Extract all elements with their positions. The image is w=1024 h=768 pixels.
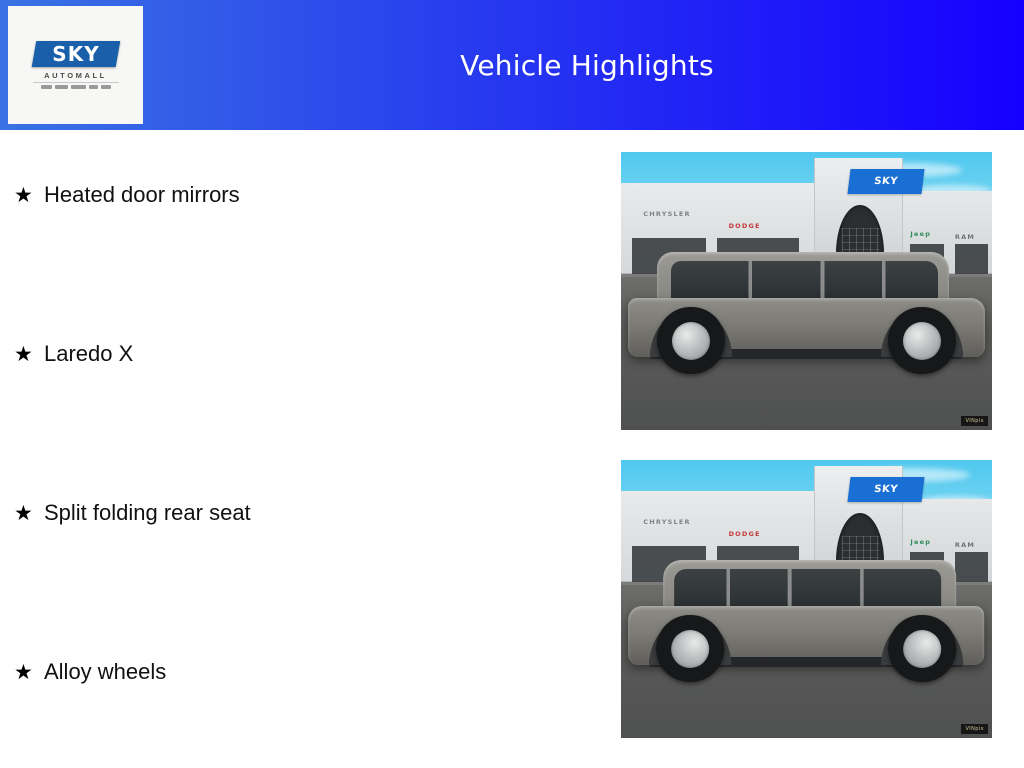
list-item: ★ Alloy wheels bbox=[0, 659, 600, 768]
vehicle-highlights-list: ★ Heated door mirrors ★ Laredo X ★ Split… bbox=[0, 130, 600, 768]
star-bullet-icon: ★ bbox=[14, 341, 44, 367]
chrysler-sign: CHRYSLER bbox=[643, 210, 690, 218]
oem-mark-ram-icon bbox=[71, 85, 86, 89]
ram-sign: RAM bbox=[955, 233, 975, 241]
logo-divider bbox=[33, 82, 119, 83]
suv-front-wheel bbox=[888, 615, 956, 683]
jeep-sign: Jeep bbox=[910, 538, 931, 546]
vehicle-photo-1[interactable]: SKY CHRYSLER DODGE Jeep RAM VINpix bbox=[621, 152, 992, 430]
dealer-logo-inner: SKY AUTOMALL bbox=[26, 41, 126, 89]
list-item: ★ Heated door mirrors bbox=[0, 182, 600, 341]
vehicle-photo-2[interactable]: SKY CHRYSLER DODGE Jeep RAM VINpix bbox=[621, 460, 992, 738]
oem-brand-strip bbox=[26, 85, 126, 89]
photo-watermark: VINpix bbox=[961, 416, 988, 426]
dealer-logo: SKY AUTOMALL bbox=[8, 6, 143, 124]
dodge-sign: DODGE bbox=[729, 222, 761, 230]
feature-label: Alloy wheels bbox=[44, 659, 166, 685]
star-bullet-icon: ★ bbox=[14, 500, 44, 526]
chrysler-sign: CHRYSLER bbox=[643, 518, 690, 526]
vehicle-suv bbox=[628, 247, 984, 375]
dodge-sign: DODGE bbox=[729, 530, 761, 538]
suv-front-wheel bbox=[657, 307, 725, 375]
slide-root: SKY AUTOMALL Vehicle Highlights ★ Heated… bbox=[0, 0, 1024, 768]
photo-watermark: VINpix bbox=[961, 724, 988, 734]
sky-logo-badge: SKY bbox=[31, 41, 120, 67]
ram-sign: RAM bbox=[955, 541, 975, 549]
list-item: ★ Split folding rear seat bbox=[0, 500, 600, 659]
jeep-sign: Jeep bbox=[910, 230, 931, 238]
vehicle-suv bbox=[628, 555, 984, 683]
dealership-sky-sign: SKY bbox=[848, 169, 925, 194]
header-bar: SKY AUTOMALL Vehicle Highlights bbox=[0, 0, 1024, 130]
feature-label: Heated door mirrors bbox=[44, 182, 240, 208]
feature-label: Laredo X bbox=[44, 341, 133, 367]
star-bullet-icon: ★ bbox=[14, 659, 44, 685]
oem-mark-chrysler-icon bbox=[41, 85, 52, 89]
page-title: Vehicle Highlights bbox=[150, 0, 1024, 130]
star-bullet-icon: ★ bbox=[14, 182, 44, 208]
feature-label: Split folding rear seat bbox=[44, 500, 251, 526]
oem-mark-dodge-icon bbox=[55, 85, 68, 89]
oem-mark-jeep-icon bbox=[89, 85, 98, 89]
sky-logo-text: SKY bbox=[34, 41, 118, 67]
list-item: ★ Laredo X bbox=[0, 341, 600, 500]
suv-rear-wheel bbox=[888, 307, 956, 375]
suv-windows bbox=[675, 569, 942, 609]
suv-rear-wheel bbox=[657, 615, 725, 683]
oem-mark-fiat-icon bbox=[101, 85, 111, 89]
dealership-sky-sign: SKY bbox=[848, 477, 925, 502]
suv-windows bbox=[671, 261, 938, 301]
automall-text: AUTOMALL bbox=[26, 71, 126, 80]
